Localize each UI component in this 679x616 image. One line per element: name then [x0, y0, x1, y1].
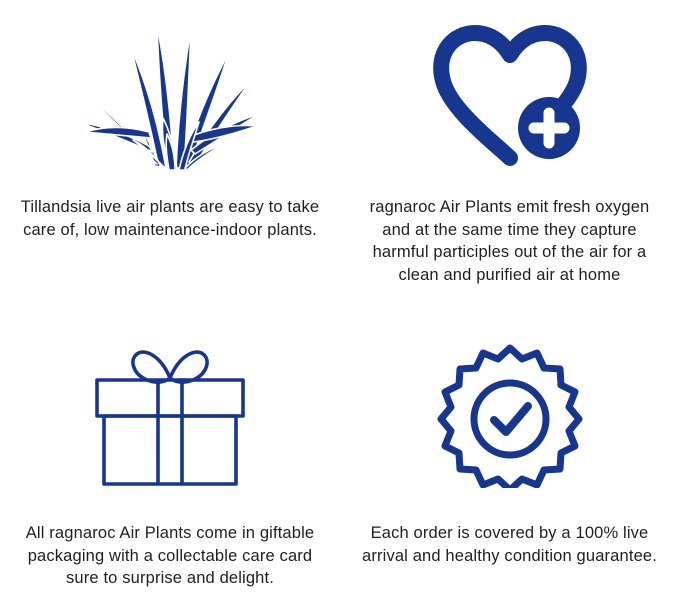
- feature-caption: Tillandsia live air plants are easy to t…: [4, 196, 336, 241]
- feature-grid: Tillandsia live air plants are easy to t…: [0, 0, 679, 616]
- feature-card-air-plant: Tillandsia live air plants are easy to t…: [0, 0, 340, 308]
- verified-badge-icon: [340, 308, 679, 522]
- feature-caption: ragnaroc Air Plants emit fresh oxygen an…: [351, 196, 669, 286]
- feature-card-guarantee: Each order is covered by a 100% live arr…: [340, 308, 679, 616]
- air-plant-icon: [0, 0, 340, 196]
- gift-box-icon: [0, 308, 340, 522]
- feature-card-gift-packaging: All ragnaroc Air Plants come in giftable…: [0, 308, 340, 616]
- heart-plus-icon: [340, 0, 679, 196]
- feature-caption: All ragnaroc Air Plants come in giftable…: [3, 522, 337, 590]
- feature-card-air-quality: ragnaroc Air Plants emit fresh oxygen an…: [340, 0, 679, 308]
- feature-caption: Each order is covered by a 100% live arr…: [351, 522, 669, 567]
